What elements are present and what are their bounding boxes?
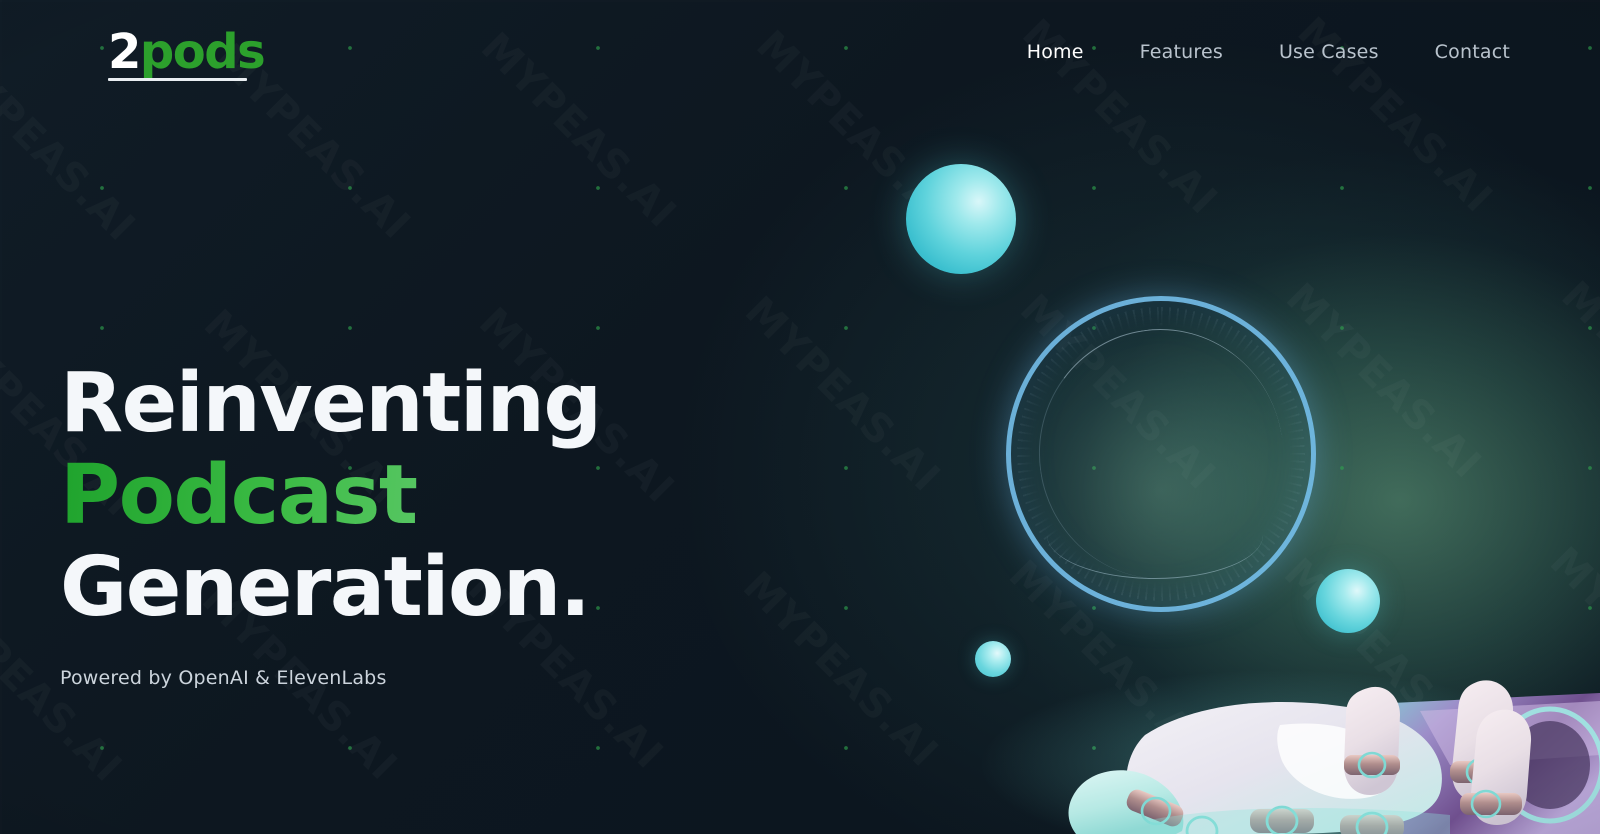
- headline-line-1: Reinventing: [60, 365, 601, 443]
- watermark-text: MYPEAS.AI: [734, 563, 947, 776]
- hero-content: Reinventing Podcast Generation. Powered …: [60, 365, 601, 689]
- watermark-text: MYPEAS.AI: [736, 288, 949, 501]
- nav-item-contact[interactable]: Contact: [1435, 41, 1510, 63]
- bubble-arc-bottom: [1047, 491, 1263, 579]
- sphere-large: [906, 164, 1016, 274]
- watermark-text: MYPEAS.AI: [1552, 273, 1600, 486]
- site-header: 2pods Home Features Use Cases Contact: [0, 0, 1600, 104]
- logo-text: 2pods: [108, 24, 264, 80]
- nav-item-home[interactable]: Home: [1027, 41, 1084, 63]
- bubble-arc-top: [1023, 313, 1299, 595]
- logo-underline: [108, 78, 247, 81]
- brand-logo[interactable]: 2pods: [108, 28, 264, 76]
- watermark-row: MYPEAS.AIMYPEAS.AIMYPEAS.AIMYPEAS.AIMYPE…: [0, 742, 475, 834]
- hero-page: MYPEAS.AIMYPEAS.AIMYPEAS.AIMYPEAS.AIMYPE…: [0, 0, 1600, 834]
- nav-item-features[interactable]: Features: [1140, 41, 1223, 63]
- headline-line-2-accent: Podcast: [60, 457, 601, 535]
- bubble-particles: [1017, 307, 1305, 601]
- headline-line-3: Generation.: [60, 549, 601, 627]
- watermark-text: MYPEAS.AI: [723, 829, 936, 834]
- nav-item-use-cases[interactable]: Use Cases: [1279, 41, 1379, 63]
- main-navigation: Home Features Use Cases Contact: [1027, 41, 1510, 63]
- logo-suffix: pods: [140, 24, 264, 80]
- logo-prefix: 2: [108, 24, 140, 80]
- page-title: Reinventing Podcast Generation.: [60, 365, 601, 627]
- robot-hand-illustration: [950, 615, 1600, 834]
- particle-bubble: [1006, 296, 1316, 612]
- hero-subtitle: Powered by OpenAI & ElevenLabs: [60, 667, 601, 689]
